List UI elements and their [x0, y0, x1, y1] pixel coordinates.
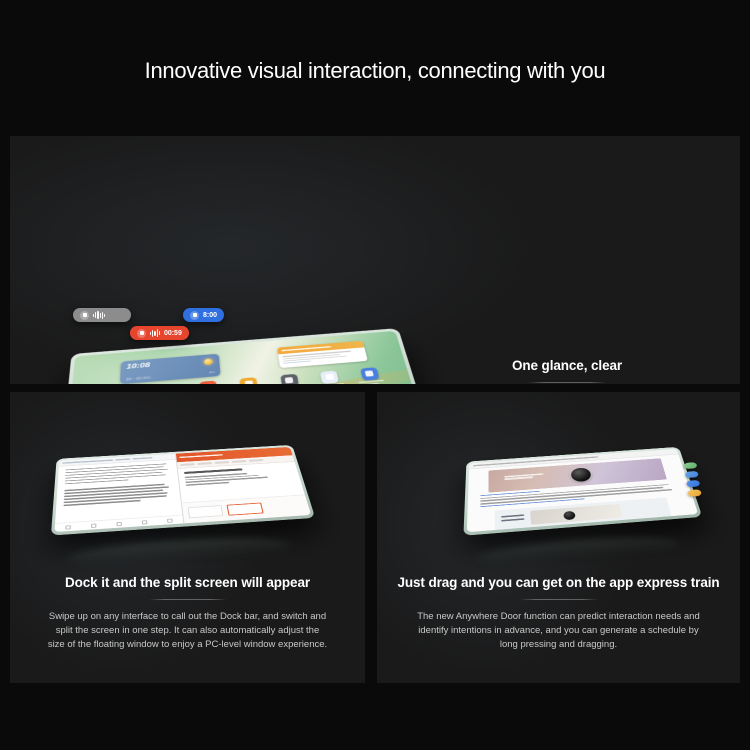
wallpaper-wave-gold: [97, 351, 426, 384]
split-pane-presentation[interactable]: [175, 447, 311, 524]
app-icon-notes[interactable]: [240, 377, 258, 384]
note-card-body: [278, 348, 368, 368]
temperature-label: 26°C: [209, 371, 215, 374]
pill-recording-label: 00:59: [164, 330, 182, 337]
anywhere-divider: [520, 599, 598, 600]
microphone-icon: [137, 329, 146, 338]
clock-weather-widget[interactable]: 10:08 星期一 · 农历五月初三 26°C: [120, 353, 221, 384]
tablet-screen: 10:08 星期一 · 农历五月初三 26°C: [65, 331, 427, 384]
hero-headline: One glance, clear: [402, 358, 732, 373]
nav-menu-icon[interactable]: [142, 520, 148, 524]
app-icon-cloud[interactable]: [360, 367, 379, 380]
nav-home-icon[interactable]: [116, 522, 121, 526]
dock-headline: Dock it and the split screen will appear: [10, 575, 365, 590]
split-pane-document[interactable]: [54, 454, 183, 532]
nav-search-icon[interactable]: [91, 523, 96, 527]
nav-back-icon[interactable]: [65, 525, 71, 529]
app-icon-grid: [115, 368, 378, 384]
anywhere-headline: Just drag and you can get on the app exp…: [377, 575, 740, 590]
dock-copy-block: Dock it and the split screen will appear…: [10, 575, 365, 652]
wallpaper-wave-highlight: [65, 339, 427, 384]
waveform-icon: [80, 311, 89, 320]
tablet-body: 10:08 星期一 · 农历五月初三 26°C: [60, 328, 432, 384]
anywhere-body-text: The new Anywhere Door function can predi…: [377, 610, 740, 652]
app-icon-files[interactable]: [364, 383, 384, 384]
clock-subtitle: 星期一 · 农历五月初三: [126, 371, 215, 381]
side-icon-notes[interactable]: [684, 462, 698, 469]
pill-timer-label: 8:00: [203, 312, 217, 319]
pill-voice-assistant[interactable]: [73, 308, 131, 322]
nav-edit-icon[interactable]: [167, 518, 173, 522]
slide-thumbnail-selected[interactable]: [227, 502, 264, 515]
clock-time: 10:08: [126, 357, 214, 371]
dock-body-text: Swipe up on any interface to call out th…: [10, 610, 365, 652]
timer-icon: [190, 311, 199, 320]
dock-tablet-device: [55, 435, 305, 539]
document-bottom-nav[interactable]: [54, 515, 183, 532]
panel-one-glance-clear: 10:08 星期一 · 农历五月初三 26°C: [10, 136, 740, 384]
hero-copy-block: One glance, clear Focus without interrup…: [402, 358, 732, 384]
presentation-thumbnail-strip[interactable]: [182, 494, 312, 523]
anywhere-tablet-device: [466, 437, 692, 539]
tablet-screen-browser: [467, 449, 698, 532]
recording-waveform-bars: [150, 329, 160, 337]
hero-divider: [528, 382, 606, 383]
side-icon-messages[interactable]: [686, 480, 700, 487]
note-card-widget[interactable]: [277, 341, 368, 368]
anywhere-copy-block: Just drag and you can get on the app exp…: [377, 575, 740, 652]
note-card-header: [277, 341, 365, 355]
waveform-bars: [93, 311, 105, 319]
slide-thumbnail[interactable]: [187, 505, 223, 518]
tablet-body: [463, 447, 702, 536]
app-icon-wallet[interactable]: [320, 370, 339, 384]
tablet-body: [51, 445, 315, 536]
dock-divider: [149, 599, 227, 600]
pill-recording[interactable]: 00:59: [130, 326, 189, 340]
page-title: Innovative visual interaction, connectin…: [0, 58, 750, 84]
promo-card-image: [531, 504, 623, 525]
hero-tablet-device: 10:08 星期一 · 农历五月初三 26°C: [68, 318, 418, 384]
phone-camera-lens-icon: [570, 467, 592, 482]
pill-timer[interactable]: 8:00: [183, 308, 224, 322]
document-text-body: [56, 459, 181, 512]
tablet-screen-split: [54, 447, 311, 532]
sun-icon: [204, 358, 213, 365]
side-icon-calendar[interactable]: [685, 471, 699, 478]
wallpaper-wave-green: [65, 367, 427, 384]
app-icon-settings[interactable]: [280, 374, 299, 384]
promo-card-text: [501, 514, 524, 523]
app-icon-store[interactable]: [199, 380, 217, 384]
